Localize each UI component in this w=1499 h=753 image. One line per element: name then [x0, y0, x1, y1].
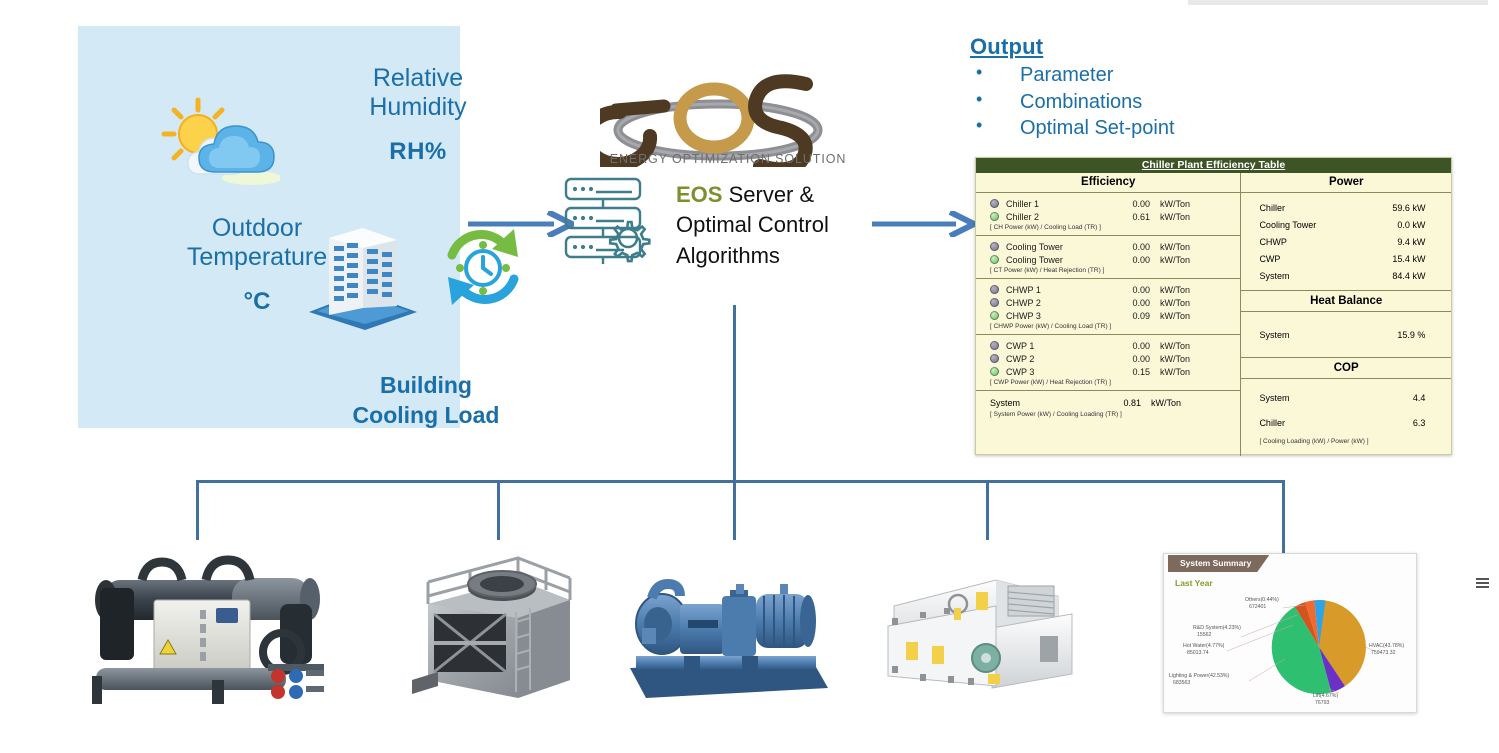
- output-item-combinations: Combinations: [970, 89, 1270, 116]
- row-unit: kW/Ton: [1150, 285, 1190, 295]
- table-row: CHWP 1 0.00 kW/Ton: [976, 283, 1240, 296]
- eos-title-line3: Algorithms: [676, 243, 780, 268]
- svg-text:85013.74: 85013.74: [1187, 650, 1209, 656]
- pie-label-others: Others(0.44%): [1245, 597, 1279, 603]
- status-dot-off: [990, 354, 999, 363]
- power-header: Power: [1241, 173, 1451, 193]
- relative-humidity-value: RH%: [323, 138, 513, 166]
- table-row: System 84.4 kW: [1241, 267, 1451, 284]
- row-label: CWP 2: [1006, 354, 1106, 364]
- svg-text:683563: 683563: [1173, 680, 1190, 686]
- output-title: Output: [970, 34, 1270, 60]
- group-note: [ CHWP Power (kW) / Cooling Load (TR) ]: [976, 322, 1240, 332]
- row-label: Cooling Tower: [1006, 242, 1106, 252]
- row-label: System: [1259, 271, 1355, 281]
- eos-tagline: ENERGY OPTIMIZATION SOLUTION: [588, 152, 868, 166]
- row-unit: kW/Ton: [1150, 298, 1190, 308]
- status-dot-off: [990, 242, 999, 251]
- row-value: 0.61: [1106, 212, 1150, 222]
- pie-label-lighting: Lighting & Power(42.53%): [1169, 673, 1230, 679]
- row-label: Cooling Tower: [1259, 220, 1355, 230]
- connector-drop-chiller: [196, 482, 199, 540]
- row-unit: kW/Ton: [1150, 242, 1190, 252]
- row-label: Cooling Tower: [1006, 255, 1106, 265]
- row-unit: kW/Ton: [1150, 341, 1190, 351]
- row-unit: kW/Ton: [1150, 367, 1190, 377]
- table-row: CWP 3 0.15 kW/Ton: [976, 365, 1240, 378]
- cop-note: [ Cooling Loading (kW) / Power (kW) ]: [1241, 432, 1451, 447]
- row-value: 4.4: [1355, 393, 1425, 403]
- row-value: 0.81: [1097, 398, 1141, 408]
- row-value: 84.4 kW: [1355, 271, 1425, 281]
- hamburger-menu-icon[interactable]: [1476, 578, 1489, 588]
- group-note: [ CT Power (kW) / Heat Rejection (TR) ]: [976, 266, 1240, 276]
- status-dot-off: [990, 199, 999, 208]
- efficiency-header: Efficiency: [976, 173, 1240, 193]
- row-value: 0.00: [1106, 298, 1150, 308]
- row-label: CWP: [1259, 254, 1355, 264]
- outdoor-temperature-value: °C: [162, 288, 352, 316]
- svg-text:15562: 15562: [1197, 632, 1212, 638]
- heat-balance-rows: System 15.9 %: [1241, 312, 1451, 357]
- row-label: CHWP 1: [1006, 285, 1106, 295]
- row-value: 59.6 kW: [1355, 203, 1425, 213]
- row-value: 0.00: [1106, 199, 1150, 209]
- row-value: 0.00: [1106, 255, 1150, 265]
- plant-table-title: Chiller Plant Efficiency Table: [976, 158, 1451, 173]
- status-dot-off: [990, 285, 999, 294]
- top-artifact-bar: [1188, 0, 1488, 5]
- status-dot-on: [990, 311, 999, 320]
- ahu-photo: [876, 566, 1086, 696]
- svg-text:759473.32: 759473.32: [1371, 650, 1396, 656]
- efficiency-column: Efficiency Chiller 1 0.00 kW/Ton Chiller…: [976, 173, 1241, 456]
- row-value: 6.3: [1355, 418, 1425, 428]
- group-note: [ System Power (kW) / Cooling Loading (T…: [976, 410, 1240, 420]
- row-label: CWP 3: [1006, 367, 1106, 377]
- row-label: CHWP 3: [1006, 311, 1106, 321]
- eos-title-rest: Server &: [722, 182, 814, 207]
- row-label: System: [1259, 330, 1355, 340]
- table-row: CHWP 2 0.00 kW/Ton: [976, 296, 1240, 309]
- status-dot-on: [990, 367, 999, 376]
- eos-title-line2: Optimal Control: [676, 212, 829, 237]
- row-unit: kW/Ton: [1150, 199, 1190, 209]
- energy-breakdown-pie-chart: Others(0.44%) 672401 R&D System(4.23%) 1…: [1163, 585, 1415, 709]
- svg-text:672401: 672401: [1249, 604, 1266, 610]
- table-row: Chiller 59.6 kW: [1241, 199, 1451, 216]
- row-label: Chiller 1: [1006, 199, 1106, 209]
- input-parameters-panel: RelativeHumidity RH% OutdoorTemperature …: [78, 26, 460, 428]
- row-value: 0.00: [1106, 341, 1150, 351]
- row-value: 15.9 %: [1355, 330, 1425, 340]
- outdoor-temperature-label: OutdoorTemperature: [162, 214, 352, 272]
- table-row: Chiller 2 0.61 kW/Ton: [976, 210, 1240, 223]
- output-item-parameter: Parameter: [970, 62, 1270, 89]
- cwp-group: CWP 1 0.00 kW/Ton CWP 2 0.00 kW/Ton CWP …: [976, 335, 1240, 391]
- row-label: Chiller 2: [1006, 212, 1106, 222]
- cop-header: COP: [1241, 357, 1451, 379]
- row-value: 9.4 kW: [1355, 237, 1425, 247]
- table-row: System 4.4: [1241, 389, 1451, 415]
- row-value: 0.00: [1106, 242, 1150, 252]
- power-rows: Chiller 59.6 kW Cooling Tower 0.0 kW CHW…: [1241, 193, 1451, 290]
- table-row: CWP 15.4 kW: [1241, 250, 1451, 267]
- row-label: CHWP: [1259, 237, 1355, 247]
- row-unit: kW/Ton: [1150, 311, 1190, 321]
- pie-label-hvac: HVAC(43.78%): [1369, 643, 1404, 649]
- status-dot-on: [990, 255, 999, 264]
- connector-horizontal-bus: [196, 480, 1285, 483]
- table-row: CHWP 9.4 kW: [1241, 233, 1451, 250]
- connector-drop-system-summary: [1282, 482, 1285, 557]
- row-value: 0.09: [1106, 311, 1150, 321]
- cop-rows: System 4.4 Chiller 6.3 [ Cooling Loading…: [1241, 379, 1451, 451]
- pie-label-rnd: R&D System(4.23%): [1193, 625, 1241, 631]
- chiller-photo: [82, 552, 358, 712]
- row-value: 0.00: [1106, 354, 1150, 364]
- table-row: System 15.9 %: [1241, 326, 1451, 343]
- table-row: Cooling Tower 0.00 kW/Ton: [976, 253, 1240, 266]
- arrow-right-icon: [468, 211, 574, 237]
- power-column: Power Chiller 59.6 kW Cooling Tower 0.0 …: [1241, 173, 1451, 456]
- diagram-canvas: RelativeHumidity RH% OutdoorTemperature …: [0, 0, 1499, 753]
- row-unit: kW/Ton: [1150, 255, 1190, 265]
- chiller-plant-efficiency-table: Chiller Plant Efficiency Table Efficienc…: [975, 157, 1452, 455]
- eos-server-title: EOS Server & Optimal Control Algorithms: [676, 180, 891, 271]
- row-unit: kW/Ton: [1141, 398, 1181, 408]
- connector-vertical-main: [733, 305, 736, 482]
- output-list: Parameter Combinations Optimal Set-point: [970, 62, 1270, 142]
- connector-drop-pump: [733, 482, 736, 540]
- chiller-group: Chiller 1 0.00 kW/Ton Chiller 2 0.61 kW/…: [976, 193, 1240, 236]
- server-gear-icon: [562, 176, 658, 266]
- status-dot-on: [990, 212, 999, 221]
- status-dot-off: [990, 341, 999, 350]
- row-unit: kW/Ton: [1150, 212, 1190, 222]
- eos-accent-word: EOS: [676, 182, 722, 207]
- row-unit: kW/Ton: [1150, 354, 1190, 364]
- row-label: System: [990, 398, 1097, 408]
- cooling-tower-group: Cooling Tower 0.00 kW/Ton Cooling Tower …: [976, 236, 1240, 279]
- building-cooling-load-label: BuildingCooling Load: [316, 371, 536, 431]
- pie-label-lift: Lift(4.67%): [1313, 693, 1338, 699]
- table-row: Chiller 6.3: [1241, 415, 1451, 432]
- status-dot-off: [990, 298, 999, 307]
- pump-photo: [622, 560, 837, 705]
- pie-label-hotwater: Hot Water(4.77%): [1183, 643, 1225, 649]
- connector-drop-ahu: [986, 482, 989, 540]
- table-row: System 0.81 kW/Ton: [976, 395, 1240, 410]
- system-efficiency-group: System 0.81 kW/Ton [ System Power (kW) /…: [976, 391, 1240, 422]
- group-note: [ CWP Power (kW) / Heat Rejection (TR) ]: [976, 378, 1240, 388]
- table-row: Cooling Tower 0.00 kW/Ton: [976, 240, 1240, 253]
- heat-balance-header: Heat Balance: [1241, 290, 1451, 312]
- row-label: CHWP 2: [1006, 298, 1106, 308]
- relative-humidity-label: RelativeHumidity: [323, 64, 513, 122]
- row-value: 0.00: [1106, 285, 1150, 295]
- svg-text:76793: 76793: [1315, 700, 1330, 706]
- row-value: 0.15: [1106, 367, 1150, 377]
- arrow-right-icon-2: [872, 211, 976, 237]
- cooling-tower-photo: [398, 552, 583, 712]
- connector-drop-cooling-tower: [497, 482, 500, 540]
- row-value: 0.0 kW: [1355, 220, 1425, 230]
- chwp-group: CHWP 1 0.00 kW/Ton CHWP 2 0.00 kW/Ton CH…: [976, 279, 1240, 335]
- row-label: CWP 1: [1006, 341, 1106, 351]
- row-label: Chiller: [1259, 418, 1355, 428]
- group-note: [ CH Power (kW) / Cooling Load (TR) ]: [976, 223, 1240, 233]
- row-label: System: [1259, 393, 1355, 403]
- row-value: 15.4 kW: [1355, 254, 1425, 264]
- table-row: CHWP 3 0.09 kW/Ton: [976, 309, 1240, 322]
- output-block: Output Parameter Combinations Optimal Se…: [970, 34, 1270, 142]
- output-item-optimal-setpoint: Optimal Set-point: [970, 115, 1270, 142]
- table-row: CWP 2 0.00 kW/Ton: [976, 352, 1240, 365]
- system-summary-tab[interactable]: System Summary: [1168, 555, 1269, 572]
- row-label: Chiller: [1259, 203, 1355, 213]
- table-row: Cooling Tower 0.0 kW: [1241, 216, 1451, 233]
- table-row: Chiller 1 0.00 kW/Ton: [976, 197, 1240, 210]
- sun-cloud-icon: [160, 96, 280, 196]
- table-row: CWP 1 0.00 kW/Ton: [976, 339, 1240, 352]
